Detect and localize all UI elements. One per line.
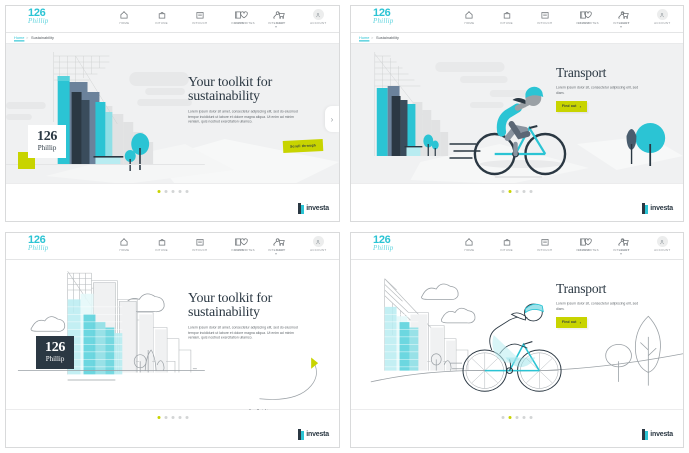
account-avatar-icon (313, 9, 324, 20)
heart-icon (239, 9, 250, 20)
slide-dot[interactable] (185, 190, 188, 193)
nav-label-cart: CART (277, 249, 286, 252)
navigation-bar: 126 Phillip HOME INTUNE INTOUCH (6, 233, 339, 260)
nav-label-favourites: FAVOURITES (234, 249, 255, 252)
nav-item-favourites[interactable]: FAVOURITES (231, 236, 257, 252)
slide-dots (157, 190, 188, 193)
navigation-bar: 126 Phillip HOME INTUNE INTOUCH (6, 6, 339, 33)
hero-toolkit-filled: Your toolkit for sustainability Lorem ip… (6, 44, 339, 194)
panel-transport-filled: 126 Phillip HOME INTUNE INTOUCH (350, 5, 684, 222)
breadcrumb-home[interactable]: Home (359, 36, 369, 41)
slide-dot[interactable] (516, 190, 519, 193)
account-avatar-icon (657, 236, 668, 247)
breadcrumb-separator: > (26, 36, 28, 41)
slide-dots (502, 416, 533, 419)
nav-item-intouch[interactable]: INTOUCH (532, 9, 558, 28)
investa-wordmark: investa (650, 431, 673, 438)
nav-label-intouch: INTOUCH (537, 249, 552, 252)
nav-item-intouch[interactable]: INTOUCH (532, 236, 558, 255)
nav-label-cart: CART (277, 22, 286, 25)
investa-logo[interactable]: investa (298, 429, 329, 440)
breadcrumb-current: Sustainability (31, 36, 54, 41)
nav-item-intune[interactable]: INTUNE (149, 236, 175, 255)
nav-label-intune: INTUNE (156, 22, 168, 25)
find-out-button[interactable]: Find out › (556, 101, 587, 112)
hero-headline: Your toolkit for sustainability (188, 292, 298, 320)
hero-copy-transport: Transport Lorem ipsum dolor sit, consect… (556, 66, 674, 112)
find-out-button[interactable]: Find out › (556, 317, 587, 328)
next-slide-button[interactable]: › (325, 106, 339, 132)
building-icon (540, 236, 551, 247)
nav-item-cart[interactable]: CART (268, 236, 294, 252)
address-name: Phillip (37, 145, 57, 152)
slide-dot[interactable] (178, 416, 181, 419)
panel-toolkit-line: 126 Phillip HOME INTUNE INTOUCH (5, 232, 340, 448)
slide-dot[interactable] (502, 416, 505, 419)
investa-mark-icon (642, 429, 648, 440)
investa-logo[interactable]: investa (298, 203, 329, 214)
find-out-label: Find out (562, 104, 577, 108)
slide-dot[interactable] (164, 416, 167, 419)
navigation-bar: 126 Phillip HOME INTUNE INTOUCH (351, 6, 683, 33)
nav-label-intune: INTUNE (501, 22, 513, 25)
nav-item-favourites[interactable]: FAVOURITES (231, 9, 257, 25)
panel-transport-line: 126 Phillip HOME INTUNE INTOUCH (350, 232, 684, 448)
hero-headline: Transport (556, 282, 674, 296)
nav-label-intouch: INTOUCH (192, 22, 207, 25)
nav-label-home: HOME (464, 22, 474, 25)
investa-logo[interactable]: investa (642, 203, 673, 214)
nav-label-home: HOME (464, 249, 474, 252)
utility-nav: FAVOURITES CART ACCOUNT (575, 9, 675, 25)
footer: investa (351, 183, 683, 221)
slide-dot[interactable] (530, 190, 533, 193)
logo-name: Phillip (28, 18, 48, 25)
nav-label-account: ACCOUNT (654, 22, 670, 25)
hero-transport-line: Transport Lorem ipsum dolor sit, consect… (351, 260, 683, 410)
nav-label-home: HOME (119, 249, 129, 252)
heart-icon (583, 236, 594, 247)
bag-icon (157, 236, 168, 247)
investa-mark-icon (298, 203, 304, 214)
scroll-through-button[interactable]: Scroll through (283, 139, 324, 153)
logo-name: Phillip (28, 245, 48, 252)
site-logo[interactable]: 126 Phillip (28, 235, 48, 252)
scroll-right-label: Scroll right (249, 408, 268, 410)
utility-nav: FAVOURITES CART ACCOUNT (575, 236, 675, 252)
hero-body: Lorem ipsum dolor sit, consectetur adipi… (556, 85, 641, 95)
breadcrumb: Home > Sustainability (351, 33, 683, 44)
chevron-right-icon: › (580, 104, 582, 109)
nav-item-intune[interactable]: INTUNE (149, 9, 175, 28)
cart-icon (620, 236, 631, 247)
find-out-label: Find out (562, 320, 577, 324)
breadcrumb: Home > Sustainability (6, 33, 339, 44)
footer: investa (351, 409, 683, 447)
investa-wordmark: investa (650, 205, 673, 212)
hero-transport-filled: Transport Lorem ipsum dolor sit, consect… (351, 44, 683, 194)
building-icon (540, 9, 551, 20)
nav-label-intune: INTUNE (156, 249, 168, 252)
slide-dot[interactable] (502, 190, 505, 193)
slide-dots (157, 416, 188, 419)
slide-dot[interactable] (516, 416, 519, 419)
slide-dot[interactable] (523, 416, 526, 419)
nav-label-home: HOME (119, 22, 129, 25)
nav-label-intune: INTUNE (501, 249, 513, 252)
hero-toolkit-line: Your toolkit for sustainability Lorem ip… (6, 260, 339, 410)
address-card: 126 Phillip (28, 125, 66, 158)
slide-dot[interactable] (157, 416, 160, 419)
slide-dot[interactable] (523, 190, 526, 193)
slide-dot[interactable] (530, 416, 533, 419)
investa-mark-icon (642, 203, 648, 214)
home-icon (119, 236, 130, 247)
nav-item-cart[interactable]: CART (612, 9, 638, 25)
cart-icon (276, 236, 287, 247)
logo-name: Phillip (373, 18, 393, 25)
nav-item-favourites[interactable]: FAVOURITES (575, 9, 601, 25)
cart-icon (620, 9, 631, 20)
nav-label-intouch: INTOUCH (537, 22, 552, 25)
nav-label-favourites: FAVOURITES (578, 22, 599, 25)
address-name: Phillip (45, 356, 65, 363)
site-logo[interactable]: 126 Phillip (373, 8, 393, 25)
heart-icon (583, 9, 594, 20)
nav-item-favourites[interactable]: FAVOURITES (575, 236, 601, 252)
breadcrumb-home[interactable]: Home (14, 36, 24, 41)
account-avatar-icon (657, 9, 668, 20)
hero-copy-toolkit: Your toolkit for sustainability Lorem ip… (188, 76, 298, 123)
address-number: 126 (37, 130, 57, 144)
utility-nav: FAVOURITES CART ACCOUNT (231, 236, 331, 252)
nav-item-account[interactable]: ACCOUNT (305, 236, 331, 252)
nav-item-home[interactable]: HOME (456, 236, 482, 255)
nav-item-intune[interactable]: INTUNE (494, 9, 520, 28)
nav-item-home[interactable]: HOME (456, 9, 482, 28)
bag-icon (502, 236, 513, 247)
nav-item-home[interactable]: HOME (111, 9, 137, 28)
slide-dot[interactable] (171, 190, 174, 193)
site-logo[interactable]: 126 Phillip (373, 235, 393, 252)
home-icon (464, 236, 475, 247)
hero-body: Lorem ipsum dolor sit amet, consectetur … (188, 325, 304, 340)
breadcrumb-current: Sustainability (376, 36, 399, 41)
breadcrumb-separator: > (371, 36, 373, 41)
mockup-grid: 126 Phillip HOME INTUNE INTOUCH (0, 0, 689, 453)
footer: investa (6, 409, 339, 447)
investa-logo[interactable]: investa (642, 429, 673, 440)
slide-dot[interactable] (509, 416, 512, 419)
slide-dot[interactable] (171, 416, 174, 419)
bag-icon (157, 9, 168, 20)
slide-dot[interactable] (157, 190, 160, 193)
hero-copy-transport: Transport Lorem ipsum dolor sit, consect… (556, 282, 674, 328)
nav-item-intune[interactable]: INTUNE (494, 236, 520, 255)
hero-headline: Your toolkit for sustainability (188, 76, 298, 104)
nav-label-account: ACCOUNT (310, 249, 326, 252)
hero-body: Lorem ipsum dolor sit amet, consectetur … (188, 109, 304, 124)
nav-label-account: ACCOUNT (654, 249, 670, 252)
nav-label-favourites: FAVOURITES (234, 22, 255, 25)
heart-icon (239, 236, 250, 247)
slide-dot[interactable] (164, 190, 167, 193)
account-avatar-icon (313, 236, 324, 247)
nav-label-cart: CART (621, 22, 630, 25)
navigation-bar: 126 Phillip HOME INTUNE INTOUCH (351, 233, 683, 260)
nav-label-favourites: FAVOURITES (578, 249, 599, 252)
slide-dots (502, 190, 533, 193)
address-number: 126 (45, 341, 65, 355)
site-logo[interactable]: 126 Phillip (28, 8, 48, 25)
nav-label-cart: CART (621, 249, 630, 252)
hero-body: Lorem ipsum dolor sit, consectetur adipi… (556, 301, 641, 311)
home-icon (119, 9, 130, 20)
slide-dot[interactable] (178, 190, 181, 193)
investa-wordmark: investa (306, 205, 329, 212)
nav-item-account[interactable]: ACCOUNT (649, 9, 675, 25)
address-card: 126 Phillip (36, 336, 74, 369)
nav-item-account[interactable]: ACCOUNT (649, 236, 675, 252)
building-icon (195, 236, 206, 247)
nav-label-intouch: INTOUCH (192, 249, 207, 252)
slide-dot[interactable] (509, 190, 512, 193)
hero-copy-toolkit: Your toolkit for sustainability Lorem ip… (188, 292, 298, 339)
nav-item-home[interactable]: HOME (111, 236, 137, 255)
nav-item-intouch[interactable]: INTOUCH (187, 9, 213, 28)
nav-item-cart[interactable]: CART (268, 9, 294, 25)
bag-icon (502, 9, 513, 20)
cart-icon (276, 9, 287, 20)
slide-dot[interactable] (185, 416, 188, 419)
nav-label-account: ACCOUNT (310, 22, 326, 25)
investa-mark-icon (298, 429, 304, 440)
investa-wordmark: investa (306, 431, 329, 438)
home-icon (464, 9, 475, 20)
utility-nav: FAVOURITES CART ACCOUNT (231, 9, 331, 25)
logo-name: Phillip (373, 245, 393, 252)
hero-headline: Transport (556, 66, 674, 80)
panel-toolkit-filled: 126 Phillip HOME INTUNE INTOUCH (5, 5, 340, 222)
nav-item-cart[interactable]: CART (612, 236, 638, 252)
nav-item-account[interactable]: ACCOUNT (305, 9, 331, 25)
footer: investa (6, 183, 339, 221)
nav-item-intouch[interactable]: INTOUCH (187, 236, 213, 255)
building-icon (195, 9, 206, 20)
chevron-right-icon: › (580, 320, 582, 325)
